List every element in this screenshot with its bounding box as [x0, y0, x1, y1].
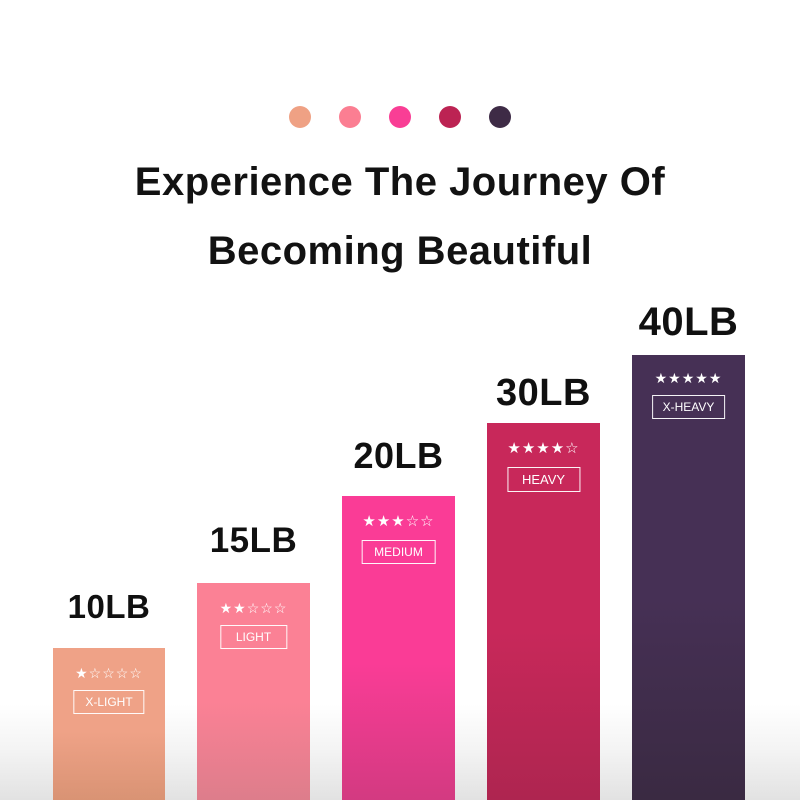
tier-badge: HEAVY [507, 467, 580, 492]
star-empty-icon: ☆ [406, 514, 420, 529]
star-empty-icon: ☆ [247, 601, 261, 615]
tier-badge: LIGHT [220, 625, 287, 649]
infographic-canvas: Experience The Journey Of Becoming Beaut… [0, 0, 800, 800]
bar-weight-label: 20LB [342, 438, 455, 474]
star-empty-icon: ☆ [116, 666, 130, 680]
star-empty-icon: ☆ [129, 666, 143, 680]
bar-column[interactable]: ★☆☆☆☆X-LIGHT [53, 648, 165, 800]
rating-stars: ★☆☆☆☆ [53, 666, 165, 680]
star-filled-icon: ★ [695, 371, 709, 385]
bar-group-10lb[interactable]: 10LB★☆☆☆☆X-LIGHT [53, 590, 165, 800]
star-empty-icon: ☆ [89, 666, 103, 680]
rating-stars: ★★★★☆ [487, 441, 600, 456]
bar-group-20lb[interactable]: 20LB★★★☆☆MEDIUM [342, 438, 455, 800]
star-empty-icon: ☆ [274, 601, 288, 615]
bar-group-30lb[interactable]: 30LB★★★★☆HEAVY [487, 374, 600, 800]
bar-content: ★★★★☆HEAVY [487, 423, 600, 800]
bar-weight-label: 10LB [53, 590, 165, 623]
bar-weight-label: 40LB [632, 302, 745, 342]
star-empty-icon: ☆ [102, 666, 116, 680]
star-filled-icon: ★ [655, 371, 669, 385]
star-filled-icon: ★ [377, 514, 391, 529]
star-filled-icon: ★ [668, 371, 682, 385]
star-filled-icon: ★ [507, 441, 521, 456]
bar-content: ★☆☆☆☆X-LIGHT [53, 648, 165, 800]
star-filled-icon: ★ [233, 601, 247, 615]
rating-stars: ★★★☆☆ [342, 514, 455, 529]
resistance-bar-chart: 10LB★☆☆☆☆X-LIGHT15LB★★☆☆☆LIGHT20LB★★★☆☆M… [0, 0, 800, 800]
star-filled-icon: ★ [536, 441, 550, 456]
bar-column[interactable]: ★★★★☆HEAVY [487, 423, 600, 800]
star-empty-icon: ☆ [565, 441, 579, 456]
tier-badge: X-HEAVY [652, 395, 726, 419]
tier-badge: X-LIGHT [73, 690, 144, 714]
bar-content: ★★★☆☆MEDIUM [342, 496, 455, 800]
bar-column[interactable]: ★★☆☆☆LIGHT [197, 583, 310, 800]
bar-content: ★★★★★X-HEAVY [632, 355, 745, 800]
star-filled-icon: ★ [362, 514, 376, 529]
tier-badge: MEDIUM [361, 540, 436, 564]
bar-group-15lb[interactable]: 15LB★★☆☆☆LIGHT [197, 523, 310, 800]
rating-stars: ★★☆☆☆ [197, 601, 310, 615]
star-filled-icon: ★ [522, 441, 536, 456]
bar-group-40lb[interactable]: 40LB★★★★★X-HEAVY [632, 302, 745, 800]
star-filled-icon: ★ [551, 441, 565, 456]
rating-stars: ★★★★★ [632, 371, 745, 385]
star-filled-icon: ★ [391, 514, 405, 529]
star-empty-icon: ☆ [260, 601, 274, 615]
bar-weight-label: 30LB [487, 374, 600, 412]
star-filled-icon: ★ [709, 371, 723, 385]
star-filled-icon: ★ [220, 601, 234, 615]
bar-column[interactable]: ★★★☆☆MEDIUM [342, 496, 455, 800]
bar-column[interactable]: ★★★★★X-HEAVY [632, 355, 745, 800]
star-empty-icon: ☆ [420, 514, 434, 529]
bar-content: ★★☆☆☆LIGHT [197, 583, 310, 800]
bar-weight-label: 15LB [197, 523, 310, 558]
star-filled-icon: ★ [682, 371, 696, 385]
star-filled-icon: ★ [75, 666, 89, 680]
